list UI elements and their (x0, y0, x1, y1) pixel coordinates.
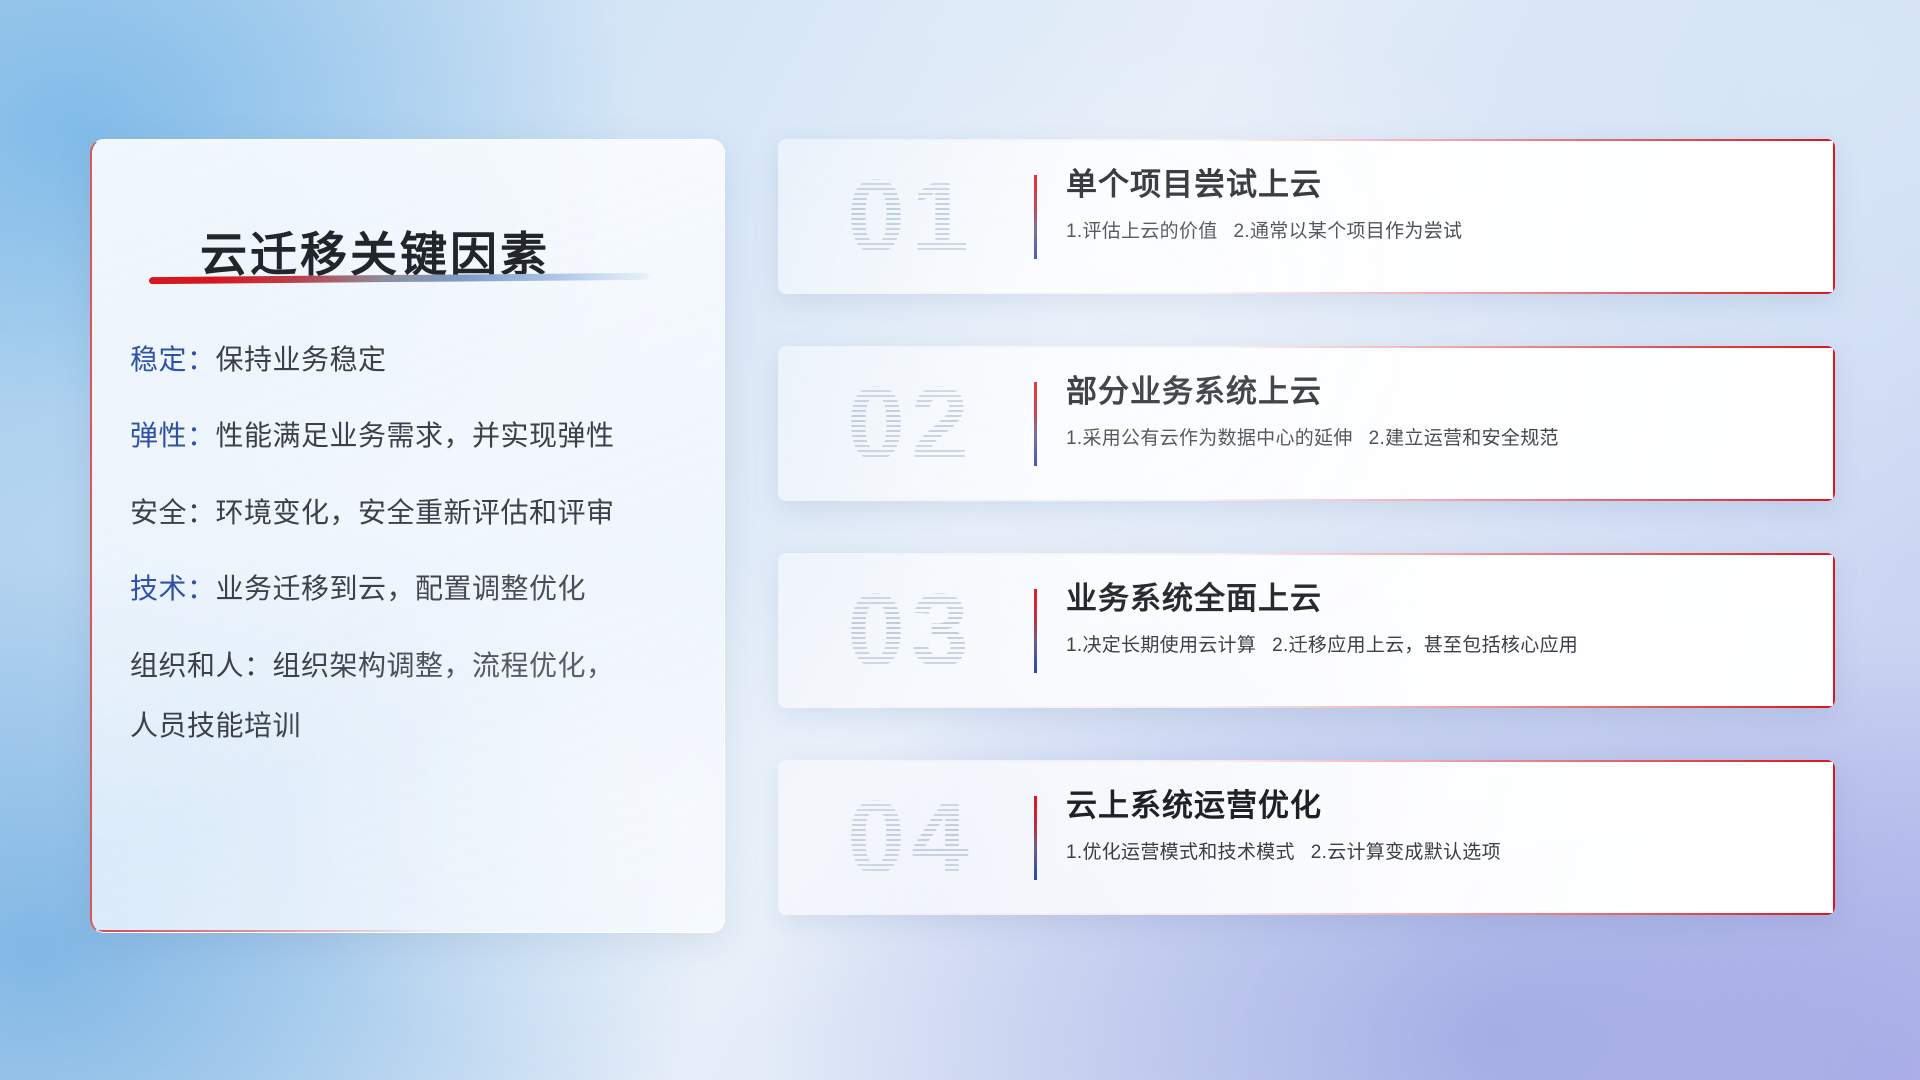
card-top-accent (778, 139, 1835, 141)
stage-card-02[interactable]: 02 部分业务系统上云 1.采用公有云作为数据中心的延伸2.建立运营和安全规范 (778, 346, 1835, 501)
factor-item-stability: 稳定：保持业务稳定 (130, 345, 702, 374)
panel-bottom-accent (92, 930, 446, 932)
stage-card-04[interactable]: 04 云上系统运营优化 1.优化运营模式和技术模式2.云计算变成默认选项 (778, 760, 1835, 915)
card-top-accent (778, 553, 1835, 555)
stage-title: 云上系统运营优化 (1066, 788, 1811, 825)
stage-point-1: 1.评估上云的价值 (1066, 221, 1218, 242)
factor-text: 保持业务稳定 (216, 344, 387, 375)
stage-body: 单个项目尝试上云 1.评估上云的价值2.通常以某个项目作为尝试 (1066, 167, 1811, 243)
stage-body: 部分业务系统上云 1.采用公有云作为数据中心的延伸2.建立运营和安全规范 (1066, 374, 1811, 450)
stage-card-01[interactable]: 01 单个项目尝试上云 1.评估上云的价值2.通常以某个项目作为尝试 (778, 139, 1835, 294)
stage-title: 单个项目尝试上云 (1066, 167, 1811, 204)
card-right-accent (1833, 553, 1835, 708)
card-bottom-accent (778, 499, 1835, 501)
factor-label: 技术： (130, 573, 216, 604)
stage-number-text: 01 (806, 153, 1016, 281)
factor-label: 组织和人： (130, 650, 273, 681)
slide-canvas: 云迁移关键因素 稳定：保持业务稳定 弹性：性能满足业务需求，并实现弹性 安全：环… (0, 0, 1920, 1080)
factor-item-organization-continued: 人员技能培训 (130, 704, 702, 744)
stage-card-03[interactable]: 03 业务系统全面上云 1.决定长期使用云计算2.迁移应用上云，甚至包括核心应用 (778, 553, 1835, 708)
factor-text: 业务迁移到云，配置调整优化 (216, 573, 587, 604)
card-right-accent (1833, 346, 1835, 501)
factor-item-organization: 组织和人：组织架构调整，流程优化， (130, 651, 702, 680)
factor-list: 稳定：保持业务稳定 弹性：性能满足业务需求，并实现弹性 安全：环境变化，安全重新… (130, 345, 702, 744)
factor-item-technology: 技术：业务迁移到云，配置调整优化 (130, 574, 702, 603)
factor-text: 组织架构调整，流程优化， (273, 650, 615, 681)
stage-point-2: 2.通常以某个项目作为尝试 (1234, 221, 1463, 242)
stage-description: 1.优化运营模式和技术模式2.云计算变成默认选项 (1066, 837, 1811, 864)
stage-description: 1.评估上云的价值2.通常以某个项目作为尝试 (1066, 216, 1811, 243)
factor-text: 性能满足业务需求，并实现弹性 (216, 420, 615, 451)
stage-point-1: 1.采用公有云作为数据中心的延伸 (1066, 428, 1353, 449)
stage-divider-bar (1034, 382, 1037, 466)
card-top-accent (778, 760, 1835, 762)
stage-number-watermark: 01 (806, 153, 1016, 281)
factor-item-security: 安全：环境变化，安全重新评估和评审 (130, 498, 702, 527)
factor-label: 安全： (130, 497, 216, 528)
stage-number-text: 04 (806, 774, 1016, 902)
card-top-accent (778, 346, 1835, 348)
stage-number-text: 03 (806, 567, 1016, 695)
stage-divider-bar (1034, 589, 1037, 673)
stage-number-watermark: 02 (806, 360, 1016, 488)
stage-divider-bar (1034, 175, 1037, 259)
card-bottom-accent (778, 706, 1835, 708)
stage-point-2: 2.云计算变成默认选项 (1311, 842, 1501, 863)
factor-label: 弹性： (130, 420, 216, 451)
card-right-accent (1833, 760, 1835, 915)
stage-number-watermark: 04 (806, 774, 1016, 902)
cloud-migration-stages: 01 单个项目尝试上云 1.评估上云的价值2.通常以某个项目作为尝试 02 部分… (778, 139, 1835, 967)
card-bottom-accent (778, 913, 1835, 915)
factor-label: 稳定： (130, 344, 216, 375)
stage-point-1: 1.决定长期使用云计算 (1066, 635, 1256, 656)
stage-description: 1.采用公有云作为数据中心的延伸2.建立运营和安全规范 (1066, 423, 1811, 450)
stage-point-1: 1.优化运营模式和技术模式 (1066, 842, 1295, 863)
stage-body: 业务系统全面上云 1.决定长期使用云计算2.迁移应用上云，甚至包括核心应用 (1066, 581, 1811, 657)
stage-description: 1.决定长期使用云计算2.迁移应用上云，甚至包括核心应用 (1066, 630, 1811, 657)
stage-body: 云上系统运营优化 1.优化运营模式和技术模式2.云计算变成默认选项 (1066, 788, 1811, 864)
stage-number-watermark: 03 (806, 567, 1016, 695)
card-bottom-accent (778, 292, 1835, 294)
stage-point-2: 2.建立运营和安全规范 (1369, 428, 1559, 449)
card-right-accent (1833, 139, 1835, 294)
key-factors-panel: 云迁移关键因素 稳定：保持业务稳定 弹性：性能满足业务需求，并实现弹性 安全：环… (90, 139, 725, 933)
stage-title: 部分业务系统上云 (1066, 374, 1811, 411)
stage-point-2: 2.迁移应用上云，甚至包括核心应用 (1272, 635, 1578, 656)
stage-divider-bar (1034, 796, 1037, 880)
stage-number-text: 02 (806, 360, 1016, 488)
stage-title: 业务系统全面上云 (1066, 581, 1811, 618)
factor-text: 环境变化，安全重新评估和评审 (216, 497, 615, 528)
factor-item-elasticity: 弹性：性能满足业务需求，并实现弹性 (130, 421, 702, 450)
